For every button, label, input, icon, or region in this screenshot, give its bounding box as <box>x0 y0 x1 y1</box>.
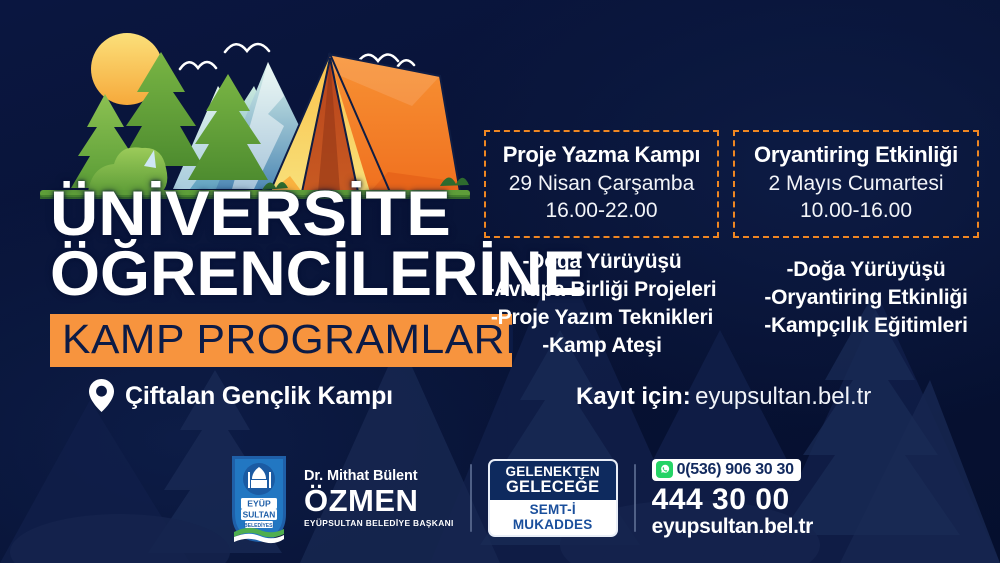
registration-url[interactable]: eyupsultan.bel.tr <box>695 383 871 410</box>
footer-website[interactable]: eyupsultan.bel.tr <box>652 516 813 537</box>
event-2-activity-list: -Doğa Yürüyüşü -Oryantiring Etkinliği -K… <box>744 256 988 340</box>
mayor-name-block: Dr. Mithat Bülent ÖZMEN EYÜPSULTAN BELED… <box>304 469 454 528</box>
whatsapp-icon <box>656 461 673 478</box>
footer-bar: EYÜP SULTAN BELEDİYESİ Dr. Mithat Bülent… <box>228 448 813 548</box>
whatsapp-pill[interactable]: 0(536) 906 30 30 <box>652 459 801 481</box>
event-card-1: Proje Yazma Kampı 29 Nisan Çarşamba 16.0… <box>484 130 719 238</box>
svg-text:EYÜP: EYÜP <box>247 499 271 509</box>
event-1-activity-list: -Doğa Yürüyüşü -Avrupa Birliği Projeleri… <box>476 248 728 361</box>
footer-divider-1 <box>470 464 472 532</box>
event-2-date: 2 Mayıs Cumartesi <box>743 171 969 197</box>
svg-text:BELEDİYESİ: BELEDİYESİ <box>244 522 274 529</box>
activity-item: -Kamp Ateşi <box>476 332 728 360</box>
subtitle-banner: KAMP PROGRAMLARI <box>50 314 512 367</box>
event-1-time: 16.00-22.00 <box>494 198 709 224</box>
event-card-2: Oryantiring Etkinliği 2 Mayıs Cumartesi … <box>733 130 979 238</box>
activity-item: -Doğa Yürüyüşü <box>744 256 988 284</box>
map-pin-icon <box>88 378 115 414</box>
activity-item: -Avrupa Birliği Projeleri <box>476 276 728 304</box>
title-line-2: ÖĞRENCİLERİNE <box>50 246 489 304</box>
slogan-line-2: GELECEĞE <box>496 479 610 497</box>
title-block: ÜNİVERSİTE ÖĞRENCİLERİNE KAMP PROGRAMLAR… <box>50 186 480 367</box>
footer-divider-2 <box>634 464 636 532</box>
svg-text:SULTAN: SULTAN <box>243 510 276 520</box>
slogan-badge-bottom: SEMT-İ MUKADDES <box>488 500 618 537</box>
event-2-time: 10.00-16.00 <box>743 198 969 224</box>
municipality-crest-logo: EYÜP SULTAN BELEDİYESİ <box>228 452 290 544</box>
call-center-number: 444 30 00 <box>652 485 813 515</box>
activity-item: -Proje Yazım Teknikleri <box>476 304 728 332</box>
activity-item: -Oryantiring Etkinliği <box>744 284 988 312</box>
poster: ÜNİVERSİTE ÖĞRENCİLERİNE KAMP PROGRAMLAR… <box>0 0 1000 563</box>
registration-line: Kayıt için: eyupsultan.bel.tr <box>576 383 871 411</box>
activity-item: -Doğa Yürüyüşü <box>476 248 728 276</box>
slogan-badge: GELENEKTEN GELECEĞE SEMT-İ MUKADDES <box>488 459 618 537</box>
contact-block: 0(536) 906 30 30 444 30 00 eyupsultan.be… <box>652 459 813 537</box>
location-block: Çiftalan Gençlik Kampı <box>88 378 393 414</box>
mayor-prefix: Dr. Mithat Bülent <box>304 469 454 484</box>
slogan-badge-top: GELENEKTEN GELECEĞE <box>488 459 618 500</box>
mayor-role: EYÜPSULTAN BELEDİYE BAŞKANI <box>304 519 454 527</box>
subtitle-text: KAMP PROGRAMLARI <box>62 319 517 360</box>
slogan-line-3: SEMT-İ MUKADDES <box>496 502 610 532</box>
whatsapp-number: 0(536) 906 30 30 <box>677 462 794 478</box>
event-1-title: Proje Yazma Kampı <box>494 142 709 167</box>
mayor-surname: ÖZMEN <box>304 485 454 516</box>
event-1-date: 29 Nisan Çarşamba <box>494 171 709 197</box>
title-line-1: ÜNİVERSİTE <box>50 186 506 244</box>
activity-item: -Kampçılık Eğitimleri <box>744 312 988 340</box>
registration-label: Kayıt için: <box>576 383 691 410</box>
event-2-title: Oryantiring Etkinliği <box>743 142 969 167</box>
location-label: Çiftalan Gençlik Kampı <box>125 382 393 411</box>
